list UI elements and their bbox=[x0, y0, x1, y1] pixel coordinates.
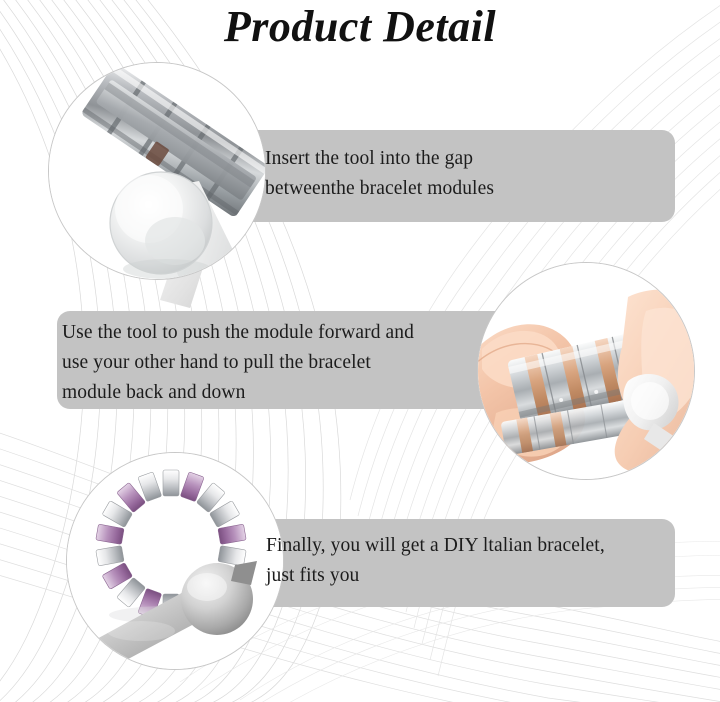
step-text-3: Finally, you will get a DIY ltalian brac… bbox=[266, 531, 666, 591]
step-text-1: Insert the tool into the gap betweenthe … bbox=[265, 144, 665, 204]
product-detail-infographic: Product Detail Insert the tool into the … bbox=[0, 0, 720, 702]
step-image-1 bbox=[48, 62, 266, 280]
page-title: Product Detail bbox=[0, 2, 720, 52]
step-text-2: Use the tool to push the module forward … bbox=[62, 318, 462, 408]
step-image-3 bbox=[66, 452, 284, 670]
step-image-2 bbox=[477, 262, 695, 480]
